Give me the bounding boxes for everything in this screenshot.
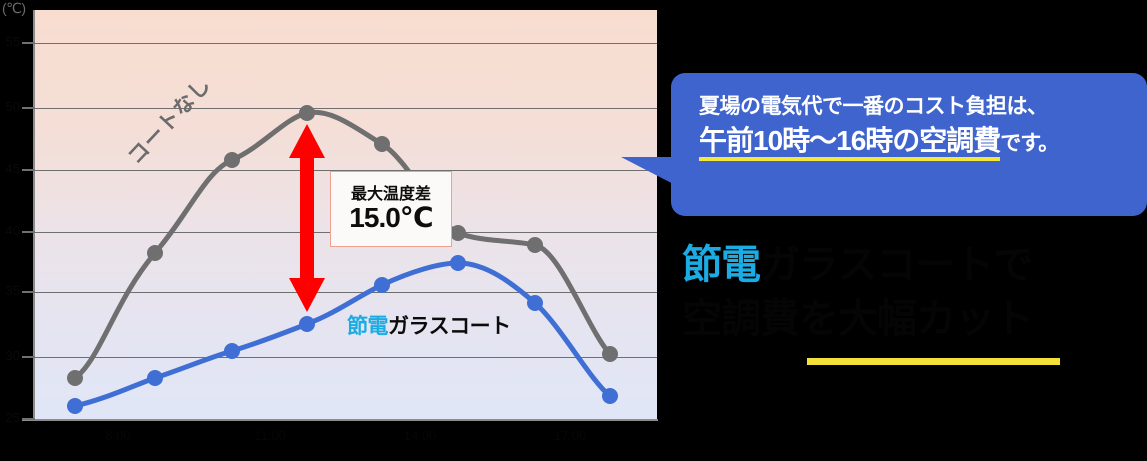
headline-block: 節電ガラスコートで 空調費を大幅カット — [682, 238, 1142, 346]
headline-line-1-rest: ガラスコートで — [760, 243, 1032, 287]
series-label-coat-rest: ガラスコート — [388, 315, 511, 338]
series-markers-coat — [67, 255, 618, 414]
max-diff-value: 15.0℃ — [349, 203, 432, 232]
callout-emphasis-text: 午前10時〜16時の空調費 — [699, 125, 1000, 161]
temperature-chart: (℃) 55 50 45 40 35 30 25 8:00 11:00 14:0… — [0, 0, 670, 461]
callout-tail-pointer — [621, 157, 683, 189]
series-label-coat: 節電ガラスコート — [347, 310, 511, 340]
max-diff-arrow-icon — [289, 124, 325, 312]
headline-underline-bar — [807, 358, 1060, 365]
callout-tail-text: です。 — [1000, 132, 1058, 155]
callout-speech-bubble: 夏場の電気代で一番のコスト負担は、 午前10時〜16時の空調費です。 — [671, 73, 1147, 216]
series-label-coat-brand: 節電 — [347, 315, 388, 338]
right-content-column: 夏場の電気代で一番のコスト負担は、 午前10時〜16時の空調費です。 節電ガラス… — [660, 0, 1147, 461]
headline-line-1: 節電ガラスコートで — [682, 238, 1142, 292]
max-diff-title: 最大温度差 — [351, 186, 431, 204]
callout-line-1: 夏場の電気代で一番のコスト負担は、 — [699, 93, 1125, 121]
max-diff-callout-box: 最大温度差 15.0℃ — [330, 171, 452, 247]
callout-line-2: 午前10時〜16時の空調費です。 — [699, 121, 1125, 162]
headline-line-2: 空調費を大幅カット — [682, 292, 1142, 346]
headline-brand: 節電 — [682, 243, 760, 287]
